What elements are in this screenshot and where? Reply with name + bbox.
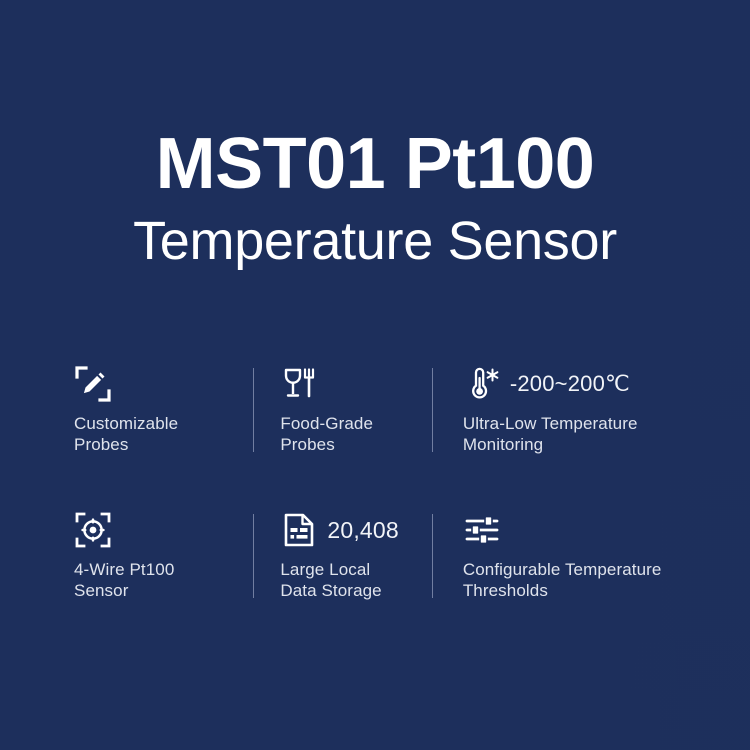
pencil-frame-icon xyxy=(74,365,112,403)
feature-label: Food-Grade Probes xyxy=(280,414,415,455)
feature-customizable-probes: Customizable Probes xyxy=(74,362,253,455)
food-grade-glass-fork-icon xyxy=(280,365,318,403)
feature-head xyxy=(74,508,237,552)
feature-grid: Customizable Probes xyxy=(74,362,678,638)
feature-large-local-data-storage: 20,408 Large Local Data Storage xyxy=(254,508,431,601)
feature-label: Ultra-Low Temperature Monitoring xyxy=(463,414,678,455)
product-banner: MST01 Pt100 Temperature Sensor xyxy=(0,0,750,750)
feature-ultra-low-temperature: -200~200℃ Ultra-Low Temperature Monitori… xyxy=(433,362,678,455)
feature-4-wire-pt100-sensor: 4-Wire Pt100 Sensor xyxy=(74,508,253,601)
feature-label: Customizable Probes xyxy=(74,414,237,455)
feature-head xyxy=(280,362,415,406)
thermometer-snowflake-icon xyxy=(463,365,501,403)
feature-configurable-thresholds: Configurable Temperature Thresholds xyxy=(433,508,678,601)
storage-count-value: 20,408 xyxy=(327,517,399,544)
sliders-settings-icon xyxy=(463,511,501,549)
hero-title-block: MST01 Pt100 Temperature Sensor xyxy=(0,128,750,270)
temperature-range-value: -200~200℃ xyxy=(510,371,630,397)
feature-label: Large Local Data Storage xyxy=(280,560,415,601)
feature-label: Configurable Temperature Thresholds xyxy=(463,560,678,601)
target-brackets-icon xyxy=(74,511,112,549)
document-data-icon xyxy=(280,511,318,549)
feature-head xyxy=(74,362,237,406)
product-subtitle: Temperature Sensor xyxy=(0,213,750,270)
feature-row-2: 4-Wire Pt100 Sensor xyxy=(74,508,678,638)
feature-food-grade-probes: Food-Grade Probes xyxy=(254,362,431,455)
product-title: MST01 Pt100 xyxy=(0,128,750,201)
feature-row-1: Customizable Probes xyxy=(74,362,678,492)
feature-label: 4-Wire Pt100 Sensor xyxy=(74,560,237,601)
feature-head: -200~200℃ xyxy=(463,362,678,406)
feature-head: 20,408 xyxy=(280,508,415,552)
feature-head xyxy=(463,508,678,552)
